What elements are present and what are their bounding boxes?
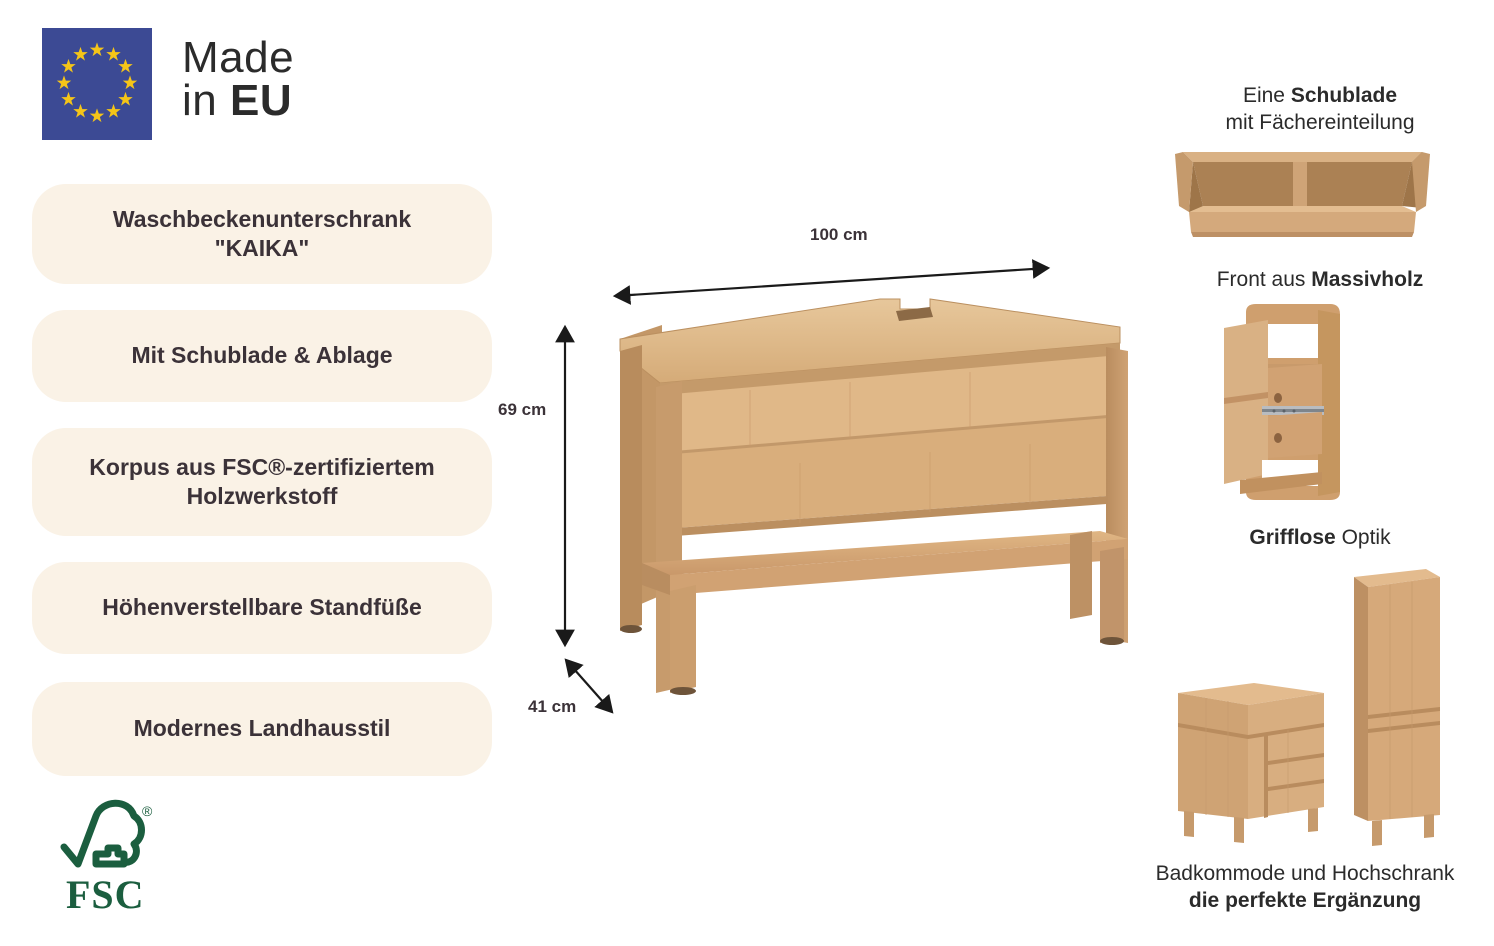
svg-text:FSC: FSC: [66, 872, 145, 917]
caption-front: Front aus Massivholz: [1150, 266, 1490, 293]
drawer-slide-image: [1222, 302, 1397, 507]
caption-combo-line1: Badkommode und Hochschrank: [1120, 860, 1490, 887]
made-in-eu-badge: Made in EU: [42, 28, 332, 148]
width-arrow: [615, 268, 1048, 296]
eu-flag-icon: [42, 28, 152, 140]
caption-drawer: Eine Schublade mit Fächereinteilung: [1150, 82, 1490, 137]
sideboard-and-tall-cabinet-image: [1168, 565, 1458, 855]
dimension-width-label: 100 cm: [810, 225, 868, 245]
feature-pill-adjustable-feet: Höhenverstellbare Standfüße: [32, 562, 492, 654]
caption-handleless-bold: Grifflose: [1249, 526, 1335, 549]
feature-pill-fsc-body: Korpus aus FSC®-zertifiziertem Holzwerks…: [32, 428, 492, 536]
feature-pill-product-name: Waschbeckenunterschrank "KAIKA": [32, 184, 492, 284]
caption-combo-line2: die perfekte Ergänzung: [1120, 887, 1490, 914]
caption-front-regular: Front aus: [1217, 268, 1312, 291]
dimension-depth-label: 41 cm: [528, 697, 576, 717]
caption-handleless-regular: Optik: [1336, 526, 1391, 549]
dimension-height-label: 69 cm: [498, 400, 546, 420]
caption-drawer-line1-regular: Eine: [1243, 84, 1291, 107]
made-in-eu-text: Made in EU: [182, 36, 294, 122]
fsc-logo: ® FSC: [52, 792, 182, 917]
made-in-eu-line2-bold: EU: [230, 76, 292, 125]
drawer-compartments-image: [1175, 140, 1430, 240]
caption-combo: Badkommode und Hochschrank die perfekte …: [1120, 860, 1490, 915]
feature-pill-drawer-shelf: Mit Schublade & Ablage: [32, 310, 492, 402]
caption-drawer-line2: mit Fächereinteilung: [1150, 109, 1490, 136]
caption-front-bold: Massivholz: [1311, 268, 1423, 291]
made-in-eu-line2: in EU: [182, 79, 294, 122]
made-in-eu-line1: Made: [182, 36, 294, 79]
main-product-image: [600, 295, 1140, 705]
caption-drawer-line1: Eine Schublade: [1150, 82, 1490, 109]
made-in-eu-line2-regular: in: [182, 76, 230, 125]
caption-drawer-line1-bold: Schublade: [1291, 84, 1397, 107]
fsc-tree-checkmark-icon: [64, 803, 142, 864]
caption-handleless: Grifflose Optik: [1150, 524, 1490, 551]
feature-pill-style: Modernes Landhausstil: [32, 682, 492, 776]
caption-combo-line2-bold: die perfekte Ergänzung: [1189, 889, 1421, 912]
svg-text:®: ®: [142, 803, 153, 819]
